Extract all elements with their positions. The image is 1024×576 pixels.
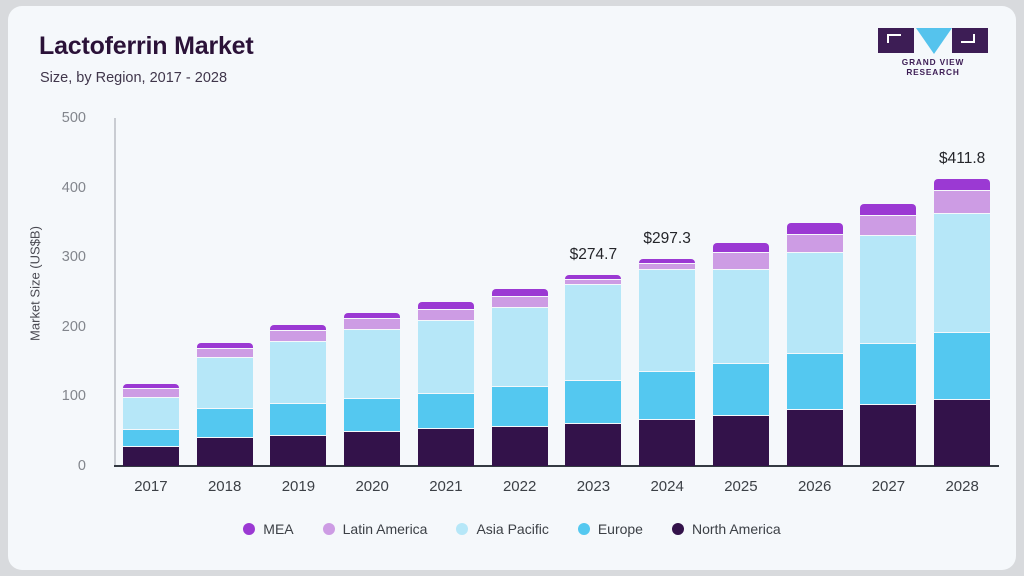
- bar-segment[interactable]: [418, 320, 474, 393]
- y-axis-tick-label: 500: [30, 110, 86, 126]
- bars-container: $274.7$297.3$411.8: [114, 118, 999, 466]
- chart-plot-area: Market Size (US$B) 0100200300400500 $274…: [8, 6, 1016, 570]
- bar-column[interactable]: [565, 275, 621, 466]
- bar-segment[interactable]: [270, 435, 326, 466]
- legend-item-asia-pacific[interactable]: Asia Pacific: [456, 521, 548, 537]
- chart-card: Lactoferrin Market Size, by Region, 2017…: [8, 6, 1016, 570]
- bar-segment[interactable]: [123, 429, 179, 446]
- legend-label: MEA: [263, 521, 293, 537]
- bar-segment[interactable]: [418, 309, 474, 320]
- legend-swatch-icon: [672, 523, 684, 535]
- bar-segment[interactable]: [934, 190, 990, 212]
- bar-segment[interactable]: [639, 269, 695, 371]
- bar-column[interactable]: [344, 313, 400, 466]
- bar-segment[interactable]: [934, 213, 990, 332]
- bar-segment[interactable]: [860, 343, 916, 404]
- bar-segment[interactable]: [123, 388, 179, 397]
- bar-column[interactable]: [860, 204, 916, 466]
- legend-label: North America: [692, 521, 781, 537]
- bar-segment[interactable]: [860, 404, 916, 466]
- bar-segment[interactable]: [565, 284, 621, 379]
- bar-column[interactable]: [787, 223, 843, 466]
- bar-segment[interactable]: [123, 446, 179, 466]
- legend-item-mea[interactable]: MEA: [243, 521, 293, 537]
- legend-label: Europe: [598, 521, 643, 537]
- bar-segment[interactable]: [344, 431, 400, 466]
- bar-column[interactable]: [123, 384, 179, 466]
- legend-label: Asia Pacific: [476, 521, 548, 537]
- bar-column[interactable]: [492, 289, 548, 466]
- bar-segment[interactable]: [344, 398, 400, 431]
- bar-segment[interactable]: [565, 380, 621, 423]
- bar-segment[interactable]: [344, 318, 400, 328]
- bar-segment[interactable]: [860, 235, 916, 343]
- bar-segment[interactable]: [713, 252, 769, 269]
- bar-segment[interactable]: [639, 371, 695, 419]
- y-axis-tick-label: 200: [30, 319, 86, 335]
- chart-legend: MEALatin AmericaAsia PacificEuropeNorth …: [8, 521, 1016, 537]
- y-axis-tick-label: 0: [30, 458, 86, 474]
- x-axis-tick-label: 2028: [917, 478, 1007, 495]
- bar-segment[interactable]: [565, 423, 621, 466]
- bar-segment[interactable]: [344, 329, 400, 398]
- bar-segment[interactable]: [270, 330, 326, 340]
- bar-column[interactable]: [197, 343, 253, 466]
- bar-segment[interactable]: [787, 252, 843, 353]
- legend-swatch-icon: [243, 523, 255, 535]
- legend-swatch-icon: [456, 523, 468, 535]
- bar-segment[interactable]: [492, 307, 548, 386]
- bar-segment[interactable]: [492, 386, 548, 426]
- bar-segment[interactable]: [713, 415, 769, 467]
- bar-value-label: $411.8: [939, 150, 985, 168]
- bar-segment[interactable]: [787, 234, 843, 252]
- bar-segment[interactable]: [934, 399, 990, 467]
- legend-swatch-icon: [578, 523, 590, 535]
- legend-label: Latin America: [343, 521, 428, 537]
- bar-column[interactable]: [713, 243, 769, 466]
- legend-item-north-america[interactable]: North America: [672, 521, 781, 537]
- y-axis-tick-label: 100: [30, 388, 86, 404]
- bar-column[interactable]: [270, 325, 326, 466]
- legend-item-europe[interactable]: Europe: [578, 521, 643, 537]
- bar-value-label: $297.3: [643, 230, 690, 248]
- bar-segment[interactable]: [418, 393, 474, 428]
- y-axis-tick-label: 400: [30, 180, 86, 196]
- bar-segment[interactable]: [197, 408, 253, 437]
- bar-segment[interactable]: [492, 296, 548, 308]
- bar-segment[interactable]: [197, 437, 253, 466]
- bar-segment[interactable]: [270, 341, 326, 404]
- bar-column[interactable]: [934, 179, 990, 466]
- bar-column[interactable]: [639, 259, 695, 466]
- legend-item-latin-america[interactable]: Latin America: [323, 521, 428, 537]
- bar-segment[interactable]: [713, 243, 769, 253]
- bar-segment[interactable]: [860, 215, 916, 235]
- bar-segment[interactable]: [787, 353, 843, 409]
- bar-segment[interactable]: [934, 179, 990, 190]
- bar-segment[interactable]: [270, 403, 326, 434]
- bar-segment[interactable]: [197, 348, 253, 358]
- bar-segment[interactable]: [197, 357, 253, 407]
- bar-column[interactable]: [418, 302, 474, 466]
- bar-segment[interactable]: [418, 428, 474, 466]
- bar-segment[interactable]: [860, 204, 916, 215]
- legend-swatch-icon: [323, 523, 335, 535]
- bar-segment[interactable]: [713, 269, 769, 363]
- bar-segment[interactable]: [934, 332, 990, 399]
- bar-segment[interactable]: [492, 426, 548, 466]
- bar-segment[interactable]: [787, 409, 843, 466]
- bar-segment[interactable]: [787, 223, 843, 233]
- bar-segment[interactable]: [123, 397, 179, 429]
- bar-segment[interactable]: [713, 363, 769, 415]
- y-axis-ticks: 0100200300400500: [30, 6, 86, 570]
- bar-segment[interactable]: [639, 419, 695, 466]
- bar-value-label: $274.7: [570, 246, 617, 264]
- y-axis-tick-label: 300: [30, 249, 86, 265]
